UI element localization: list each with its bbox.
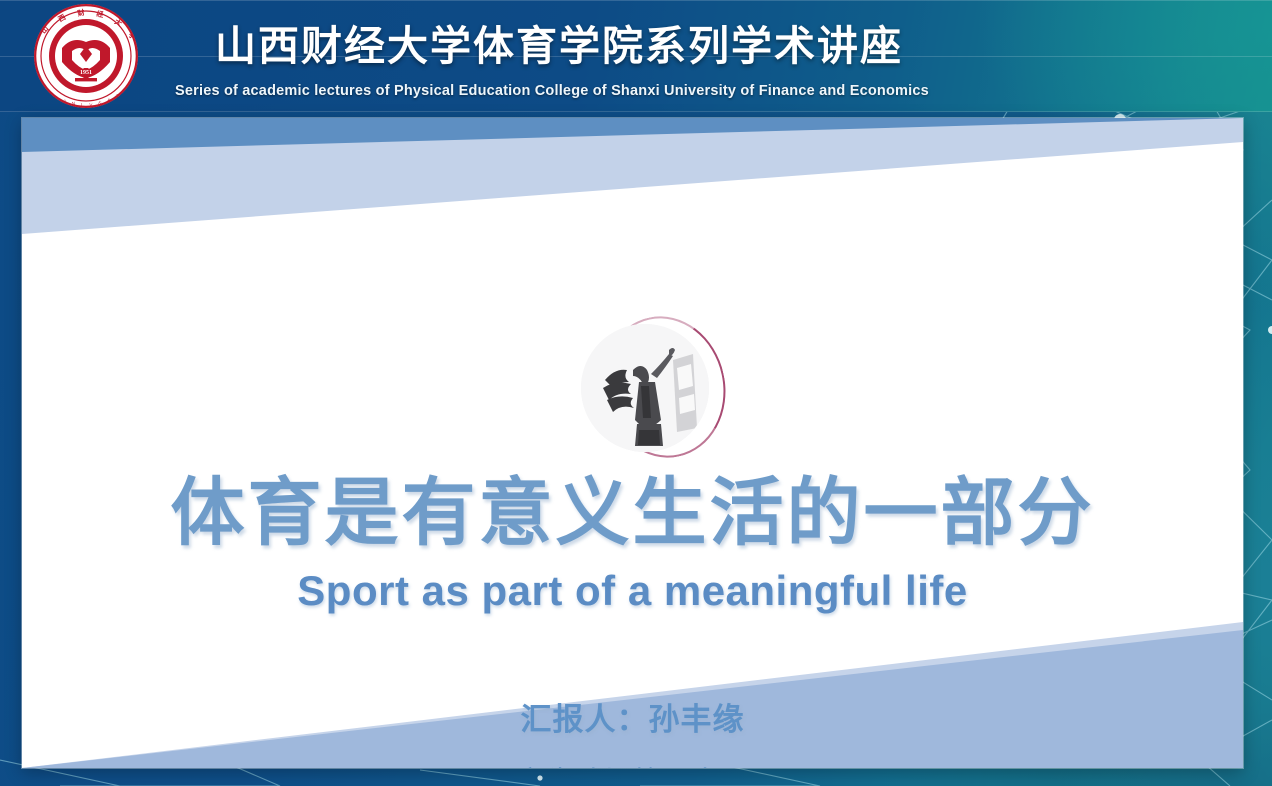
slide-stage: 1951 山 西 财 经 大 学 S H A N X (0, 0, 1272, 786)
presenter-line: 汇报人：孙丰缘 (22, 704, 1243, 735)
svg-text:N: N (72, 101, 76, 106)
svg-text:I: I (81, 102, 82, 107)
hero-image-group (581, 314, 731, 462)
svg-text:1951: 1951 (80, 70, 92, 76)
slide-card: 体育是有意义生活的一部分 Sport as part of a meaningf… (22, 118, 1243, 768)
slide-title-cn: 体育是有意义生活的一部分 (22, 476, 1243, 550)
header-hairline-bottom (0, 111, 1272, 112)
slide-title-en: Sport as part of a meaningful life (22, 570, 1243, 612)
header-banner: 1951 山 西 财 经 大 学 S H A N X (0, 0, 1272, 112)
header-hairline-top (0, 0, 1272, 1)
svg-text:Y: Y (132, 74, 138, 79)
winged-victory-statue-photo (581, 324, 709, 452)
header-title-cn: 山西财经大学体育学院系列学术讲座 (215, 26, 1095, 67)
header-title-en: Series of academic lectures of Physical … (175, 84, 1135, 99)
university-seal-logo: 1951 山 西 财 经 大 学 S H A N X (10, 4, 162, 108)
slide-content: 体育是有意义生活的一部分 Sport as part of a meaningf… (22, 118, 1243, 768)
